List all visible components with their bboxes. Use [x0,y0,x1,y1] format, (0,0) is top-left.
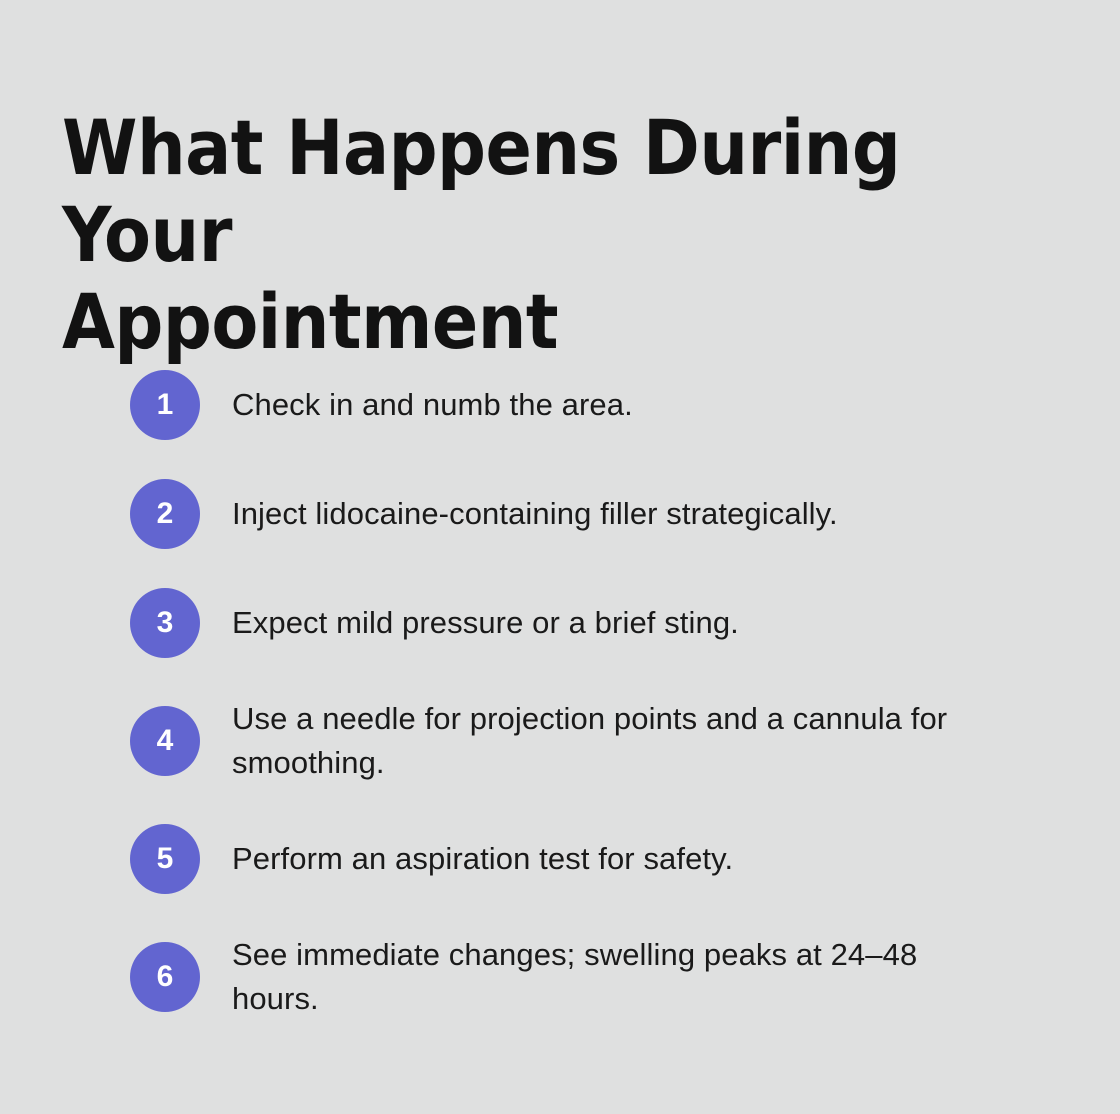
step-description: See immediate changes; swelling peaks at… [232,933,1007,1021]
infographic-card: What Happens During Your Appointment 1 C… [0,0,1120,1114]
list-item: 6 See immediate changes; swelling peaks … [130,933,1010,1021]
title-block: What Happens During Your Appointment [62,104,1002,365]
step-number-badge: 1 [130,370,200,440]
steps-list: 1 Check in and numb the area. 2 Inject l… [130,370,1010,1021]
step-number-badge: 6 [130,942,200,1012]
step-description: Use a needle for projection points and a… [232,697,1007,785]
list-item: 3 Expect mild pressure or a brief sting. [130,588,1010,658]
step-description: Expect mild pressure or a brief sting. [232,601,1007,645]
list-item: 2 Inject lidocaine-containing filler str… [130,479,1010,549]
step-number-badge: 2 [130,479,200,549]
list-item: 5 Perform an aspiration test for safety. [130,824,1010,894]
step-number-badge: 4 [130,706,200,776]
page-title: What Happens During Your Appointment [62,104,1002,365]
step-description: Perform an aspiration test for safety. [232,837,1007,881]
step-description: Check in and numb the area. [232,383,1007,427]
list-item: 1 Check in and numb the area. [130,370,1010,440]
step-number-badge: 3 [130,588,200,658]
step-number-badge: 5 [130,824,200,894]
step-description: Inject lidocaine-containing filler strat… [232,492,1007,536]
list-item: 4 Use a needle for projection points and… [130,697,1010,785]
